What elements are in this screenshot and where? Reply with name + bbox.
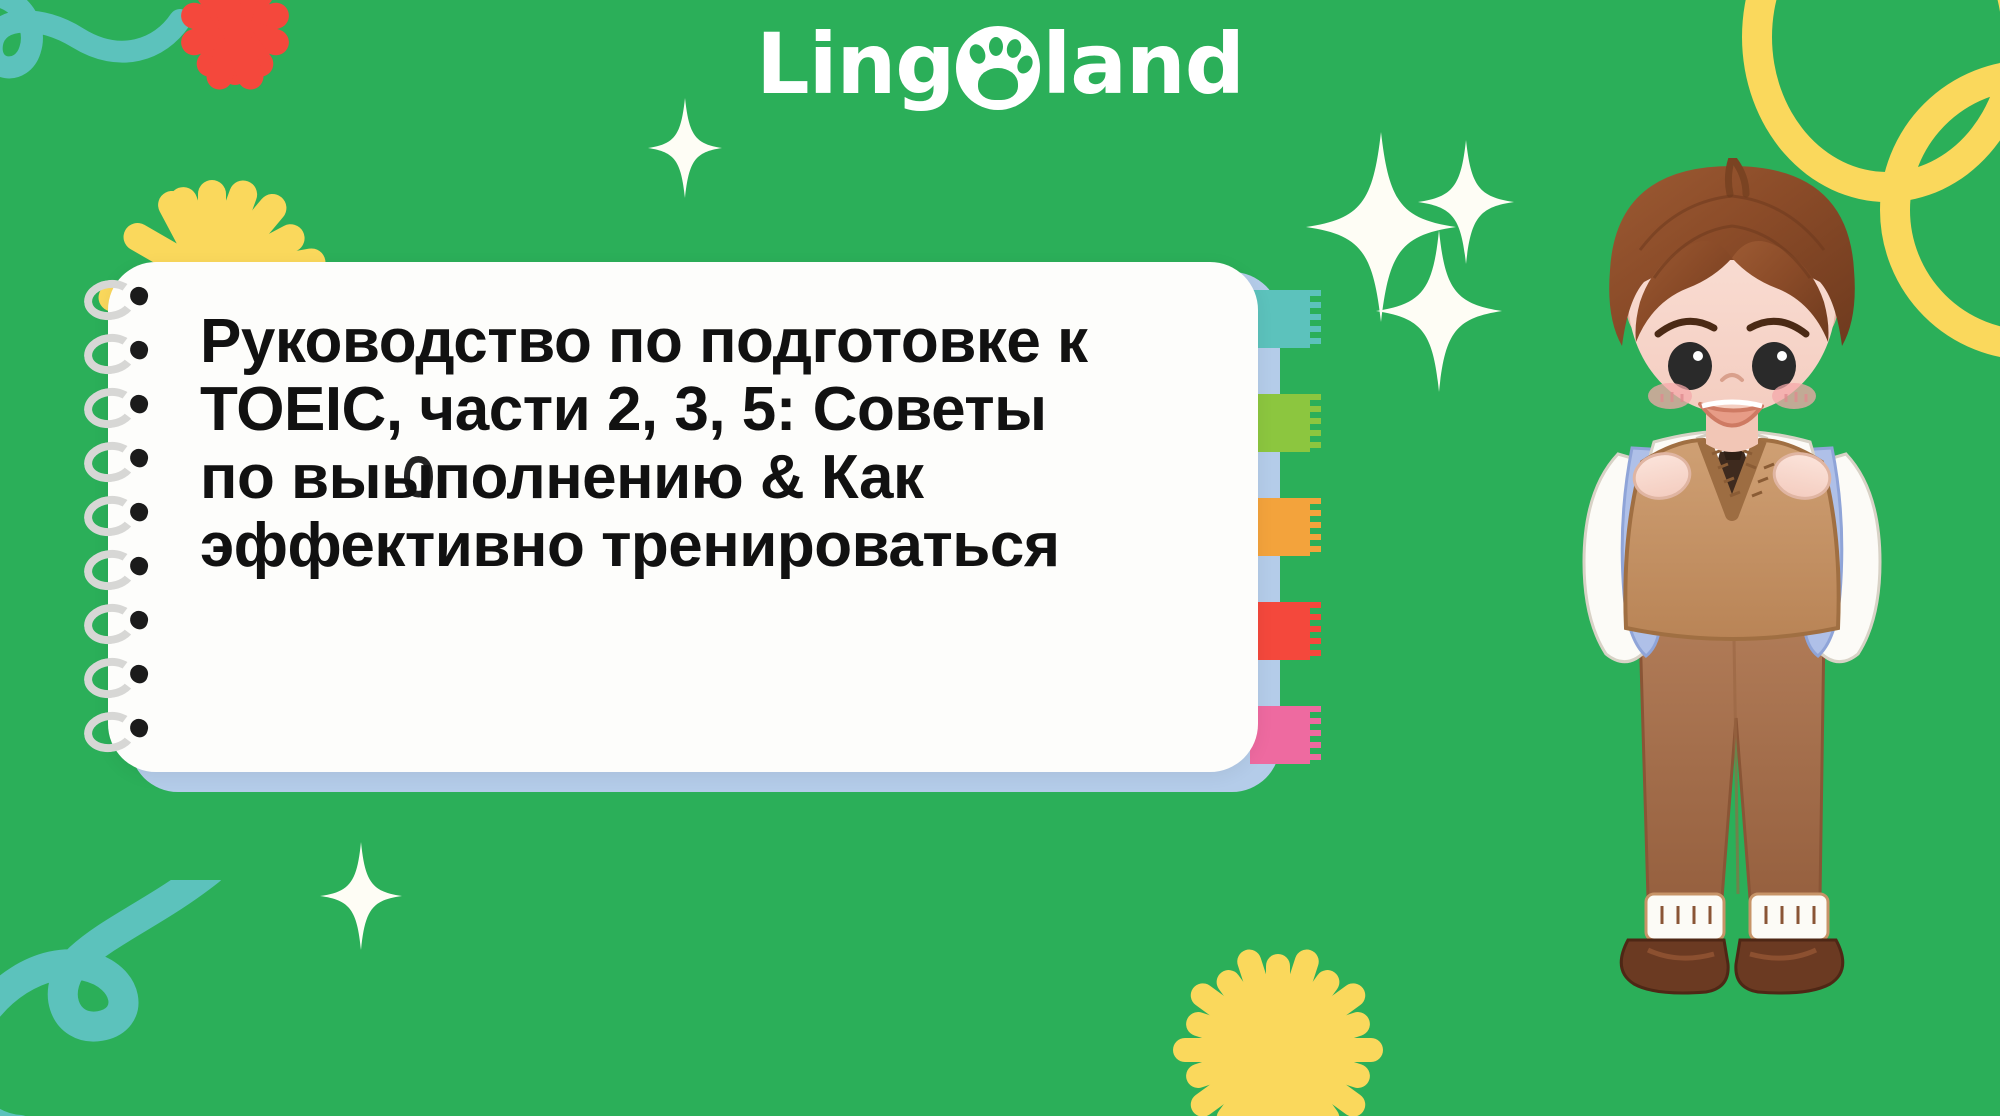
title-line-4: эффективно тренироваться bbox=[200, 512, 1160, 580]
binding-ring bbox=[84, 712, 160, 752]
sparkle-small-upper bbox=[1418, 140, 1514, 264]
tab-pink[interactable] bbox=[1250, 706, 1310, 764]
binding-ring bbox=[84, 334, 160, 374]
paw-print-icon bbox=[956, 26, 1040, 110]
character-head bbox=[1609, 158, 1855, 426]
title-line-2: TOEIC, части 2, 3, 5: Советы bbox=[200, 376, 1160, 444]
notebook-card: Руководство по подготовке к TOEIC, части… bbox=[108, 262, 1280, 792]
sparkle-large-upper bbox=[1306, 132, 1456, 322]
schoolboy-mascot bbox=[1522, 158, 1942, 1088]
tab-red[interactable] bbox=[1250, 602, 1310, 660]
binding-ring bbox=[84, 280, 160, 320]
character-trousers bbox=[1640, 628, 1824, 898]
squiggle-teal-bottom-right bbox=[700, 1040, 1000, 1116]
binding-ring bbox=[84, 496, 160, 536]
binding-ring bbox=[84, 658, 160, 698]
title-line-1: Руководство по подготовке к bbox=[200, 308, 1160, 376]
title-line-3-text: по выыполнению & Как bbox=[200, 443, 924, 512]
spiral-binding bbox=[84, 280, 164, 754]
starburst-yellow-bottom bbox=[1158, 930, 1398, 1116]
character-shoes bbox=[1621, 940, 1842, 993]
index-tabs bbox=[1250, 290, 1316, 760]
title-line-3: по выыполнению & Как О bbox=[200, 444, 1160, 512]
tab-teal[interactable] bbox=[1250, 290, 1310, 348]
page-title: Руководство по подготовке к TOEIC, части… bbox=[200, 308, 1160, 580]
tab-green[interactable] bbox=[1250, 394, 1310, 452]
character-socks bbox=[1646, 894, 1828, 940]
sparkle-mid bbox=[1376, 230, 1502, 392]
binding-ring bbox=[84, 388, 160, 428]
card-surface: Руководство по подготовке к TOEIC, части… bbox=[108, 262, 1258, 772]
logo-text-left: Ling bbox=[756, 22, 954, 106]
logo-text-right: land bbox=[1042, 22, 1243, 106]
title-glitch-artifact: О bbox=[402, 446, 434, 510]
tab-orange[interactable] bbox=[1250, 498, 1310, 556]
binding-ring bbox=[84, 604, 160, 644]
poster-canvas: Ling land Руководство по подготовке к TO… bbox=[0, 0, 2000, 1116]
binding-ring bbox=[84, 442, 160, 482]
brand-logo: Ling land bbox=[0, 22, 2000, 106]
sparkle-bottom-left bbox=[320, 842, 402, 950]
sparkle-left-small bbox=[648, 98, 722, 198]
squiggle-teal-bottom-left bbox=[0, 880, 380, 1116]
binding-ring bbox=[84, 550, 160, 590]
